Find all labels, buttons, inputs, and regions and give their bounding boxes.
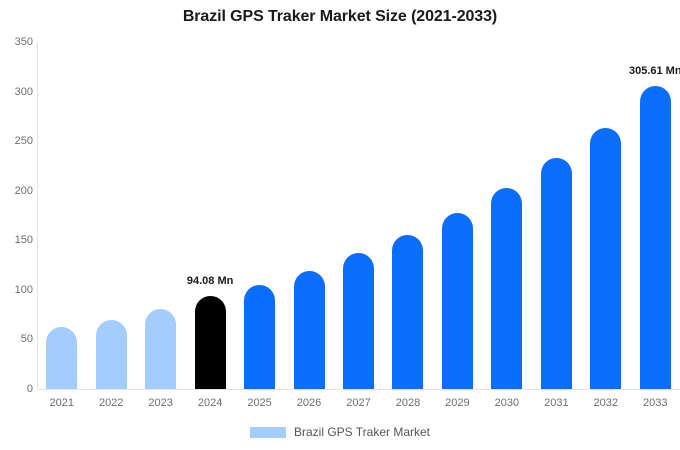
bar-2026[interactable] (294, 271, 325, 389)
chart-legend: Brazil GPS Traker Market (0, 425, 680, 439)
legend-swatch (250, 427, 286, 438)
bar-2031[interactable] (541, 158, 572, 389)
bar-value-label-2024: 94.08 Mn (187, 275, 233, 287)
x-axis-tick-label: 2026 (297, 397, 321, 409)
bar-2030[interactable] (491, 188, 522, 389)
bar-2033[interactable] (640, 86, 671, 389)
bar-2025[interactable] (244, 285, 275, 389)
x-axis-tick-label: 2031 (544, 397, 568, 409)
bar-2022[interactable] (96, 320, 127, 389)
x-axis-tick-label: 2021 (49, 397, 73, 409)
bar-2032[interactable] (590, 128, 621, 389)
bar-2027[interactable] (343, 253, 374, 389)
x-axis-tick-label: 2032 (594, 397, 618, 409)
bar-2021[interactable] (46, 327, 77, 389)
x-axis-tick-label: 2027 (346, 397, 370, 409)
x-axis-tick-label: 2022 (99, 397, 123, 409)
x-axis-tick-label: 2025 (247, 397, 271, 409)
chart-container: Brazil GPS Traker Market Size (2021-2033… (0, 0, 680, 450)
legend-label: Brazil GPS Traker Market (294, 425, 430, 439)
bar-2024[interactable] (195, 296, 226, 389)
bar-2023[interactable] (145, 309, 176, 389)
x-axis-tick-label: 2024 (198, 397, 222, 409)
bar-value-label-2033: 305.61 Mn (629, 65, 680, 77)
x-axis-tick-label: 2030 (495, 397, 519, 409)
x-axis-tick-label: 2028 (396, 397, 420, 409)
bars-layer: 2021202220232024202520262027202820292030… (0, 0, 680, 450)
bar-2029[interactable] (442, 213, 473, 389)
bar-2028[interactable] (392, 235, 423, 389)
x-axis-tick-label: 2033 (643, 397, 667, 409)
x-axis-tick-label: 2023 (148, 397, 172, 409)
x-axis-tick-label: 2029 (445, 397, 469, 409)
